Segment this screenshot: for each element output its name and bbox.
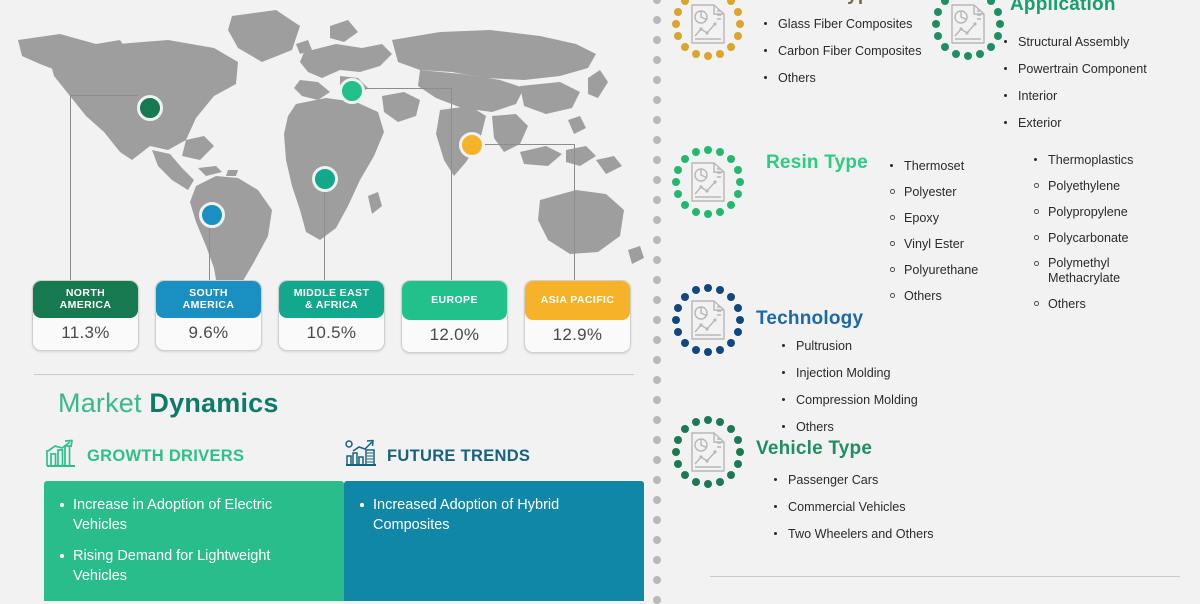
region-label-line1: SOUTH bbox=[189, 287, 228, 299]
region-label-line1: ASIA PACIFIC bbox=[541, 294, 615, 306]
ring-dot bbox=[734, 190, 742, 198]
right-panel: Product Type Glass Fiber Composites Carb… bbox=[664, 0, 1200, 600]
left-panel: NORTH AMERICA 11.3% SOUTH AMERICA 9.6% M… bbox=[0, 0, 648, 600]
segment-subitem: Thermoplastics bbox=[1028, 152, 1168, 168]
ring-dot bbox=[736, 448, 744, 456]
ring-dot bbox=[692, 286, 700, 294]
divider-dot bbox=[653, 516, 661, 524]
divider-dot bbox=[653, 136, 661, 144]
region-value: 10.5% bbox=[279, 318, 384, 350]
region-cards: NORTH AMERICA 11.3% SOUTH AMERICA 9.6% M… bbox=[32, 280, 632, 360]
map-marker-middle-east-africa[interactable] bbox=[312, 166, 338, 192]
segment-item: Structural Assembly bbox=[998, 34, 1147, 50]
segment-item: Compression Molding bbox=[776, 392, 918, 408]
region-card-asia-pacific[interactable]: ASIA PACIFIC 12.9% bbox=[524, 280, 631, 353]
growth-driver-item: Increase in Adoption of Electric Vehicle… bbox=[58, 495, 328, 535]
ring-dot bbox=[716, 286, 724, 294]
segment-item: Others bbox=[758, 70, 922, 86]
region-card-header: SOUTH AMERICA bbox=[156, 281, 261, 318]
ring-dot bbox=[734, 304, 742, 312]
region-label-line2: AMERICA bbox=[60, 299, 112, 311]
segment-item: Two Wheelers and Others bbox=[768, 526, 934, 542]
ring-dot bbox=[704, 146, 712, 154]
segment-subitem: Vinyl Ester bbox=[884, 236, 978, 252]
segment-title: Vehicle Type bbox=[756, 438, 872, 460]
region-card-header: EUROPE bbox=[402, 281, 507, 320]
ring-dot bbox=[932, 20, 940, 28]
ring-dot bbox=[674, 436, 682, 444]
ring-dot bbox=[716, 418, 724, 426]
ring-dot bbox=[934, 32, 942, 40]
region-label-line1: EUROPE bbox=[431, 294, 478, 306]
divider-dot bbox=[653, 476, 661, 484]
divider-dot bbox=[653, 416, 661, 424]
future-trends-label: FUTURE TRENDS bbox=[387, 447, 530, 466]
divider-dot bbox=[653, 436, 661, 444]
segment-title: Product Type bbox=[758, 0, 880, 6]
divider-dot bbox=[653, 396, 661, 404]
region-card-north-america[interactable]: NORTH AMERICA 11.3% bbox=[32, 280, 139, 351]
map-marker-asia-pacific[interactable] bbox=[459, 132, 485, 158]
ring-dot bbox=[692, 346, 700, 354]
growth-drivers-label: GROWTH DRIVERS bbox=[87, 447, 244, 466]
divider-dot bbox=[653, 356, 661, 364]
market-dynamics-title-part2: Dynamics bbox=[149, 388, 278, 418]
divider-dot bbox=[653, 16, 661, 24]
region-value: 9.6% bbox=[156, 318, 261, 350]
segment-item: Commercial Vehicles bbox=[768, 499, 934, 515]
divider-dot bbox=[653, 316, 661, 324]
growth-drivers-box: Increase in Adoption of Electric Vehicle… bbox=[44, 481, 344, 601]
market-dynamics-title-part1: Market bbox=[58, 388, 149, 418]
segment-subitem: Polycarbonate bbox=[1028, 230, 1168, 246]
region-card-middle-east-africa[interactable]: MIDDLE EAST & AFRICA 10.5% bbox=[278, 280, 385, 351]
infographic-page: NORTH AMERICA 11.3% SOUTH AMERICA 9.6% M… bbox=[0, 0, 1200, 600]
map-marker-north-america[interactable] bbox=[137, 95, 163, 121]
section-divider bbox=[34, 374, 634, 375]
segment-subitem: Thermoset bbox=[884, 158, 978, 174]
divider-dot bbox=[653, 456, 661, 464]
map-marker-europe[interactable] bbox=[339, 78, 365, 104]
segment-item: Exterior bbox=[998, 115, 1147, 131]
ring-dot bbox=[736, 20, 744, 28]
growth-drivers-column: GROWTH DRIVERS Increase in Adoption of E… bbox=[44, 436, 344, 601]
divider-dot bbox=[653, 376, 661, 384]
ring-dot bbox=[704, 52, 712, 60]
region-value: 11.3% bbox=[33, 318, 138, 350]
divider-dot bbox=[653, 216, 661, 224]
ring-dot bbox=[674, 328, 682, 336]
trend-chart-icon bbox=[344, 439, 378, 474]
connector-middle-east-v bbox=[324, 182, 325, 285]
connector-north-america-v bbox=[70, 95, 71, 285]
ring-dot bbox=[692, 418, 700, 426]
ring-dot bbox=[734, 32, 742, 40]
region-card-header: MIDDLE EAST & AFRICA bbox=[279, 281, 384, 318]
segment-subitem: Others bbox=[884, 288, 978, 304]
divider-dot bbox=[653, 596, 661, 604]
divider-dot bbox=[653, 56, 661, 64]
ring-dot bbox=[674, 8, 682, 16]
segment-item: Injection Molding bbox=[776, 365, 918, 381]
segment-item: Pultrusion bbox=[776, 338, 918, 354]
divider-dot bbox=[653, 296, 661, 304]
ring-dot bbox=[734, 166, 742, 174]
segment-subitem: Epoxy bbox=[884, 210, 978, 226]
growth-driver-item: Rising Demand for Lightweight Vehicles bbox=[58, 546, 328, 586]
ring-dot bbox=[692, 208, 700, 216]
ring-dot bbox=[674, 460, 682, 468]
ring-dot bbox=[672, 448, 680, 456]
future-trends-column: FUTURE TRENDS Increased Adoption of Hybr… bbox=[344, 436, 644, 601]
region-label-line2: AMERICA bbox=[183, 299, 235, 311]
ring-dot bbox=[934, 8, 942, 16]
ring-dot bbox=[994, 8, 1002, 16]
map-marker-south-america[interactable] bbox=[199, 202, 225, 228]
segment-subitem: Polyurethane bbox=[884, 262, 978, 278]
ring-dot bbox=[674, 304, 682, 312]
ring-dot bbox=[996, 20, 1004, 28]
technology-icon-ring bbox=[672, 284, 744, 356]
connector-asia-pacific-v bbox=[574, 144, 575, 285]
segment-subitem: Polyester bbox=[884, 184, 978, 200]
ring-dot bbox=[672, 316, 680, 324]
ring-dot bbox=[952, 50, 960, 58]
product-type-icon-ring bbox=[672, 0, 744, 60]
ring-dot bbox=[704, 348, 712, 356]
divider-dot bbox=[653, 196, 661, 204]
segment-item: Others bbox=[776, 419, 918, 435]
ring-dot bbox=[734, 8, 742, 16]
market-dynamics-title: Market Dynamics bbox=[58, 388, 279, 419]
divider-dot bbox=[653, 156, 661, 164]
divider-dot bbox=[653, 536, 661, 544]
bottom-divider bbox=[710, 576, 1180, 577]
segment-item: Powertrain Component bbox=[998, 61, 1147, 77]
segment-item: Glass Fiber Composites bbox=[758, 16, 922, 32]
ring-dot bbox=[736, 178, 744, 186]
segment-subitem: Polymethyl Methacrylate bbox=[1028, 256, 1168, 286]
divider-dot bbox=[653, 36, 661, 44]
ring-dot bbox=[692, 148, 700, 156]
segment-title: Technology bbox=[756, 308, 863, 330]
divider-dot bbox=[653, 116, 661, 124]
connector-europe-h bbox=[351, 88, 451, 89]
growth-chart-icon bbox=[44, 439, 78, 474]
divider-dot bbox=[653, 176, 661, 184]
divider-dot bbox=[653, 96, 661, 104]
region-card-header: NORTH AMERICA bbox=[33, 281, 138, 318]
ring-dot bbox=[704, 480, 712, 488]
ring-dot bbox=[692, 478, 700, 486]
divider-dot bbox=[653, 76, 661, 84]
ring-dot bbox=[964, 52, 972, 60]
segment-item: Carbon Fiber Composites bbox=[758, 43, 922, 59]
ring-dot bbox=[716, 208, 724, 216]
ring-dot bbox=[716, 148, 724, 156]
ring-dot bbox=[674, 166, 682, 174]
future-trend-item: Increased Adoption of Hybrid Composites bbox=[358, 495, 628, 535]
segment-subitem: Polyethylene bbox=[1028, 178, 1168, 194]
ring-dot bbox=[692, 50, 700, 58]
region-value: 12.0% bbox=[402, 320, 507, 352]
ring-dot bbox=[674, 32, 682, 40]
vehicle-type-icon-ring bbox=[672, 416, 744, 488]
future-trends-header: FUTURE TRENDS bbox=[344, 436, 644, 476]
ring-dot bbox=[734, 460, 742, 468]
future-trends-box: Increased Adoption of Hybrid Composites bbox=[344, 481, 644, 601]
world-map bbox=[0, 0, 648, 300]
divider-dot bbox=[653, 336, 661, 344]
application-icon-ring bbox=[932, 0, 1004, 60]
divider-dot bbox=[653, 236, 661, 244]
connector-north-america bbox=[70, 95, 138, 96]
ring-dot bbox=[736, 316, 744, 324]
ring-dot bbox=[734, 328, 742, 336]
growth-drivers-header: GROWTH DRIVERS bbox=[44, 436, 344, 476]
region-card-europe[interactable]: EUROPE 12.0% bbox=[401, 280, 508, 353]
segment-item: Interior bbox=[998, 88, 1147, 104]
ring-dot bbox=[672, 20, 680, 28]
segment-title: Application bbox=[1010, 0, 1116, 16]
region-card-header: ASIA PACIFIC bbox=[525, 281, 630, 320]
ring-dot bbox=[704, 210, 712, 218]
ring-dot bbox=[672, 178, 680, 186]
divider-dot bbox=[653, 496, 661, 504]
region-label-line1: MIDDLE EAST bbox=[294, 287, 370, 299]
segment-item: Passenger Cars bbox=[768, 472, 934, 488]
connector-europe-v bbox=[451, 88, 452, 285]
ring-dot bbox=[716, 50, 724, 58]
region-label-line1: NORTH bbox=[66, 287, 105, 299]
segment-subitem: Polypropylene bbox=[1028, 204, 1168, 220]
ring-dot bbox=[976, 50, 984, 58]
resin-type-icon-ring bbox=[672, 146, 744, 218]
region-value: 12.9% bbox=[525, 320, 630, 352]
ring-dot bbox=[716, 346, 724, 354]
region-card-south-america[interactable]: SOUTH AMERICA 9.6% bbox=[155, 280, 262, 351]
region-label-line2: & AFRICA bbox=[305, 299, 358, 311]
divider-dot bbox=[653, 0, 661, 4]
ring-dot bbox=[674, 190, 682, 198]
divider-dot bbox=[653, 256, 661, 264]
segment-title: Resin Type bbox=[766, 152, 868, 174]
divider-dot bbox=[653, 576, 661, 584]
segment-subitem: Others bbox=[1028, 296, 1168, 312]
divider-dot bbox=[653, 276, 661, 284]
vertical-dotted-divider bbox=[650, 0, 664, 600]
ring-dot bbox=[716, 478, 724, 486]
ring-dot bbox=[704, 284, 712, 292]
ring-dot bbox=[704, 416, 712, 424]
divider-dot bbox=[653, 556, 661, 564]
ring-dot bbox=[734, 436, 742, 444]
